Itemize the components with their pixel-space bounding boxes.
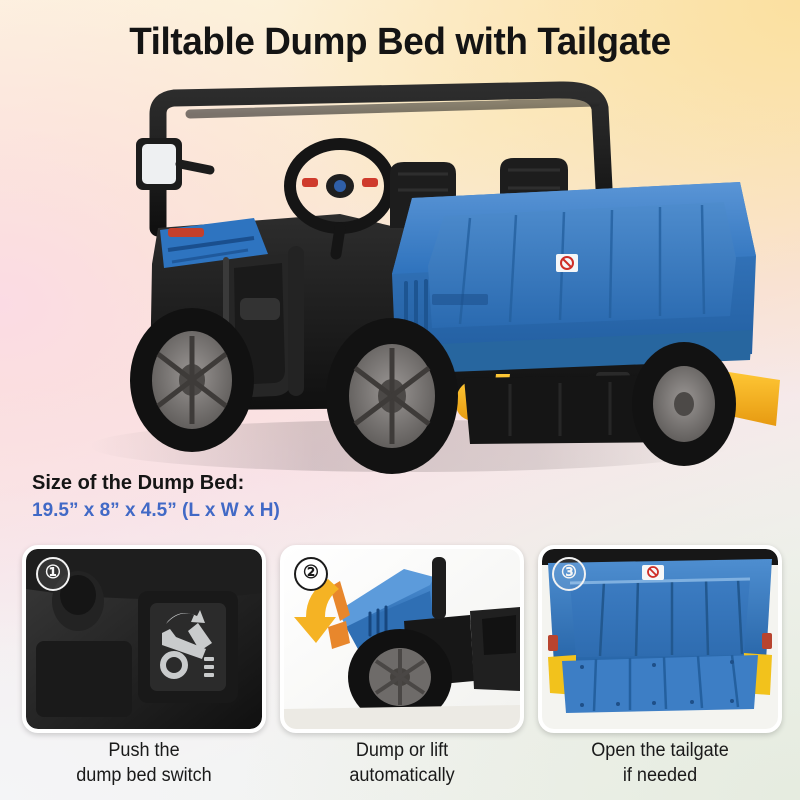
warning-sticker [556,254,578,272]
bed-floor [570,579,750,657]
step-number-badge-3: ③ [552,557,586,591]
step-caption-3-line2: if needed [544,763,776,788]
step-number-badge-2: ② [294,557,328,591]
step-caption-2-line2: automatically [286,763,518,788]
size-spec-block: Size of the Dump Bed: 19.5” x 8” x 4.5” … [32,470,362,524]
hero-product-image: HY66 EZC [40,78,780,498]
open-tailgate [562,655,758,713]
step-card-1[interactable]: ① [22,545,266,733]
step-caption-3: Open the tailgate if needed [544,738,776,796]
rear-wheel [632,342,736,466]
step-caption-3-line1: Open the tailgate [544,738,776,763]
front-wheel [130,308,254,452]
page-title: Tiltable Dump Bed with Tailgate [12,18,788,66]
step-caption-1-line1: Push the [28,738,260,763]
front-marker-light [168,228,204,237]
step-card-3[interactable]: ③ [538,545,782,733]
step-caption-1: Push the dump bed switch [28,738,260,796]
step-card-2[interactable]: ② [280,545,524,733]
step-number-badge-1: ① [36,557,70,591]
warning-sticker [642,565,664,580]
size-spec-value: 19.5” x 8” x 4.5” (L x W x H) [32,498,362,524]
side-mirror [136,138,210,190]
size-spec-label: Size of the Dump Bed: [32,470,362,496]
step-caption-1-line2: dump bed switch [28,763,260,788]
step-captions: Push the dump bed switch Dump or lift au… [22,738,782,796]
step-caption-2: Dump or lift automatically [286,738,518,796]
steps-gallery: ① [22,545,782,733]
dump-bed [392,182,756,374]
door-hinge-post [288,246,304,396]
mid-wheel [326,318,458,474]
step-caption-2-line1: Dump or lift [286,738,518,763]
product-feature-page: Tiltable Dump Bed with Tailgate [0,0,800,800]
